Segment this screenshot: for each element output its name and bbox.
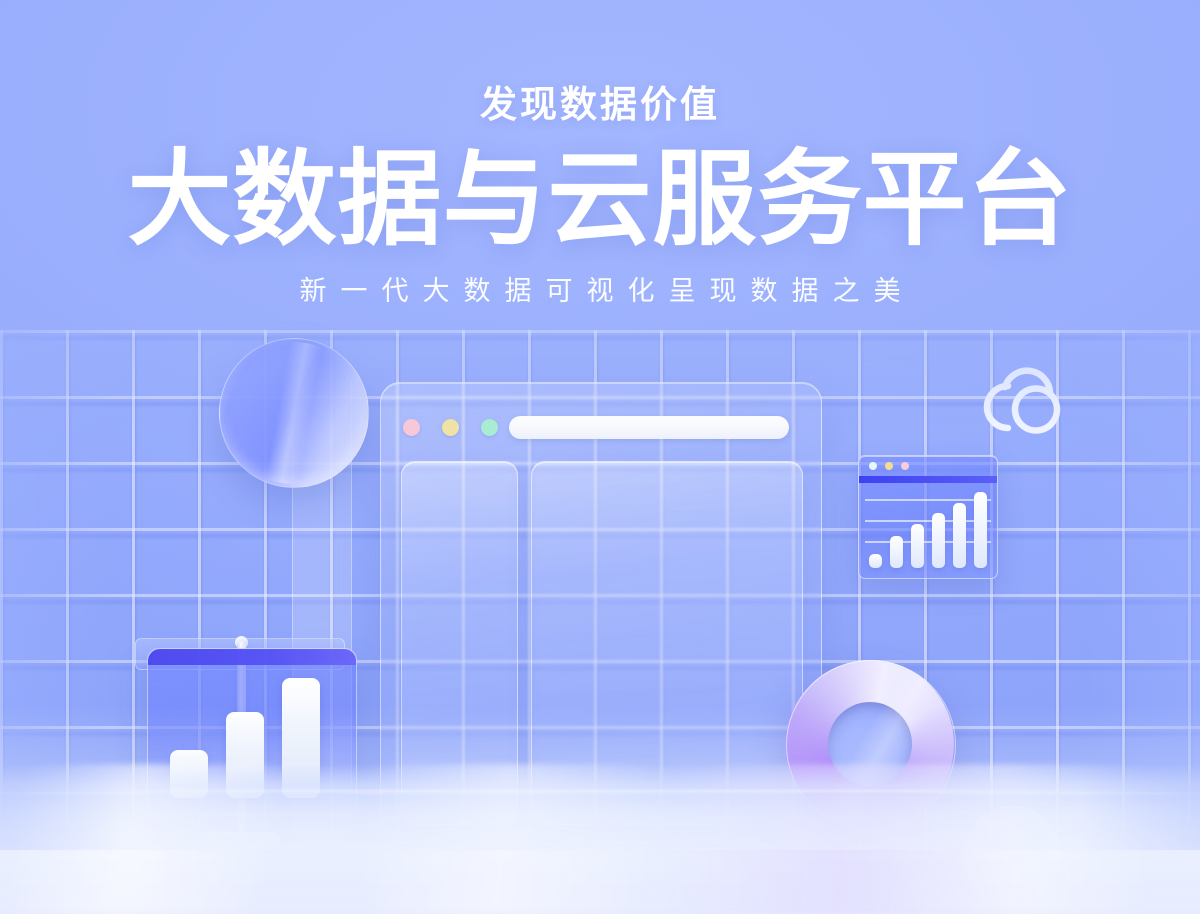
page-title: 大数据与云服务平台: [0, 145, 1200, 255]
subtitle-text: 新一代大数据可视化呈现数据之美: [0, 269, 1200, 308]
eyebrow-text: 发现数据价值: [0, 86, 1200, 123]
headline-block: 发现数据价值 大数据与云服务平台 新一代大数据可视化呈现数据之美: [0, 86, 1200, 308]
lattice-fade-overlay: [0, 330, 1200, 850]
hero-banner: 发现数据价值 大数据与云服务平台 新一代大数据可视化呈现数据之美: [0, 0, 1200, 914]
